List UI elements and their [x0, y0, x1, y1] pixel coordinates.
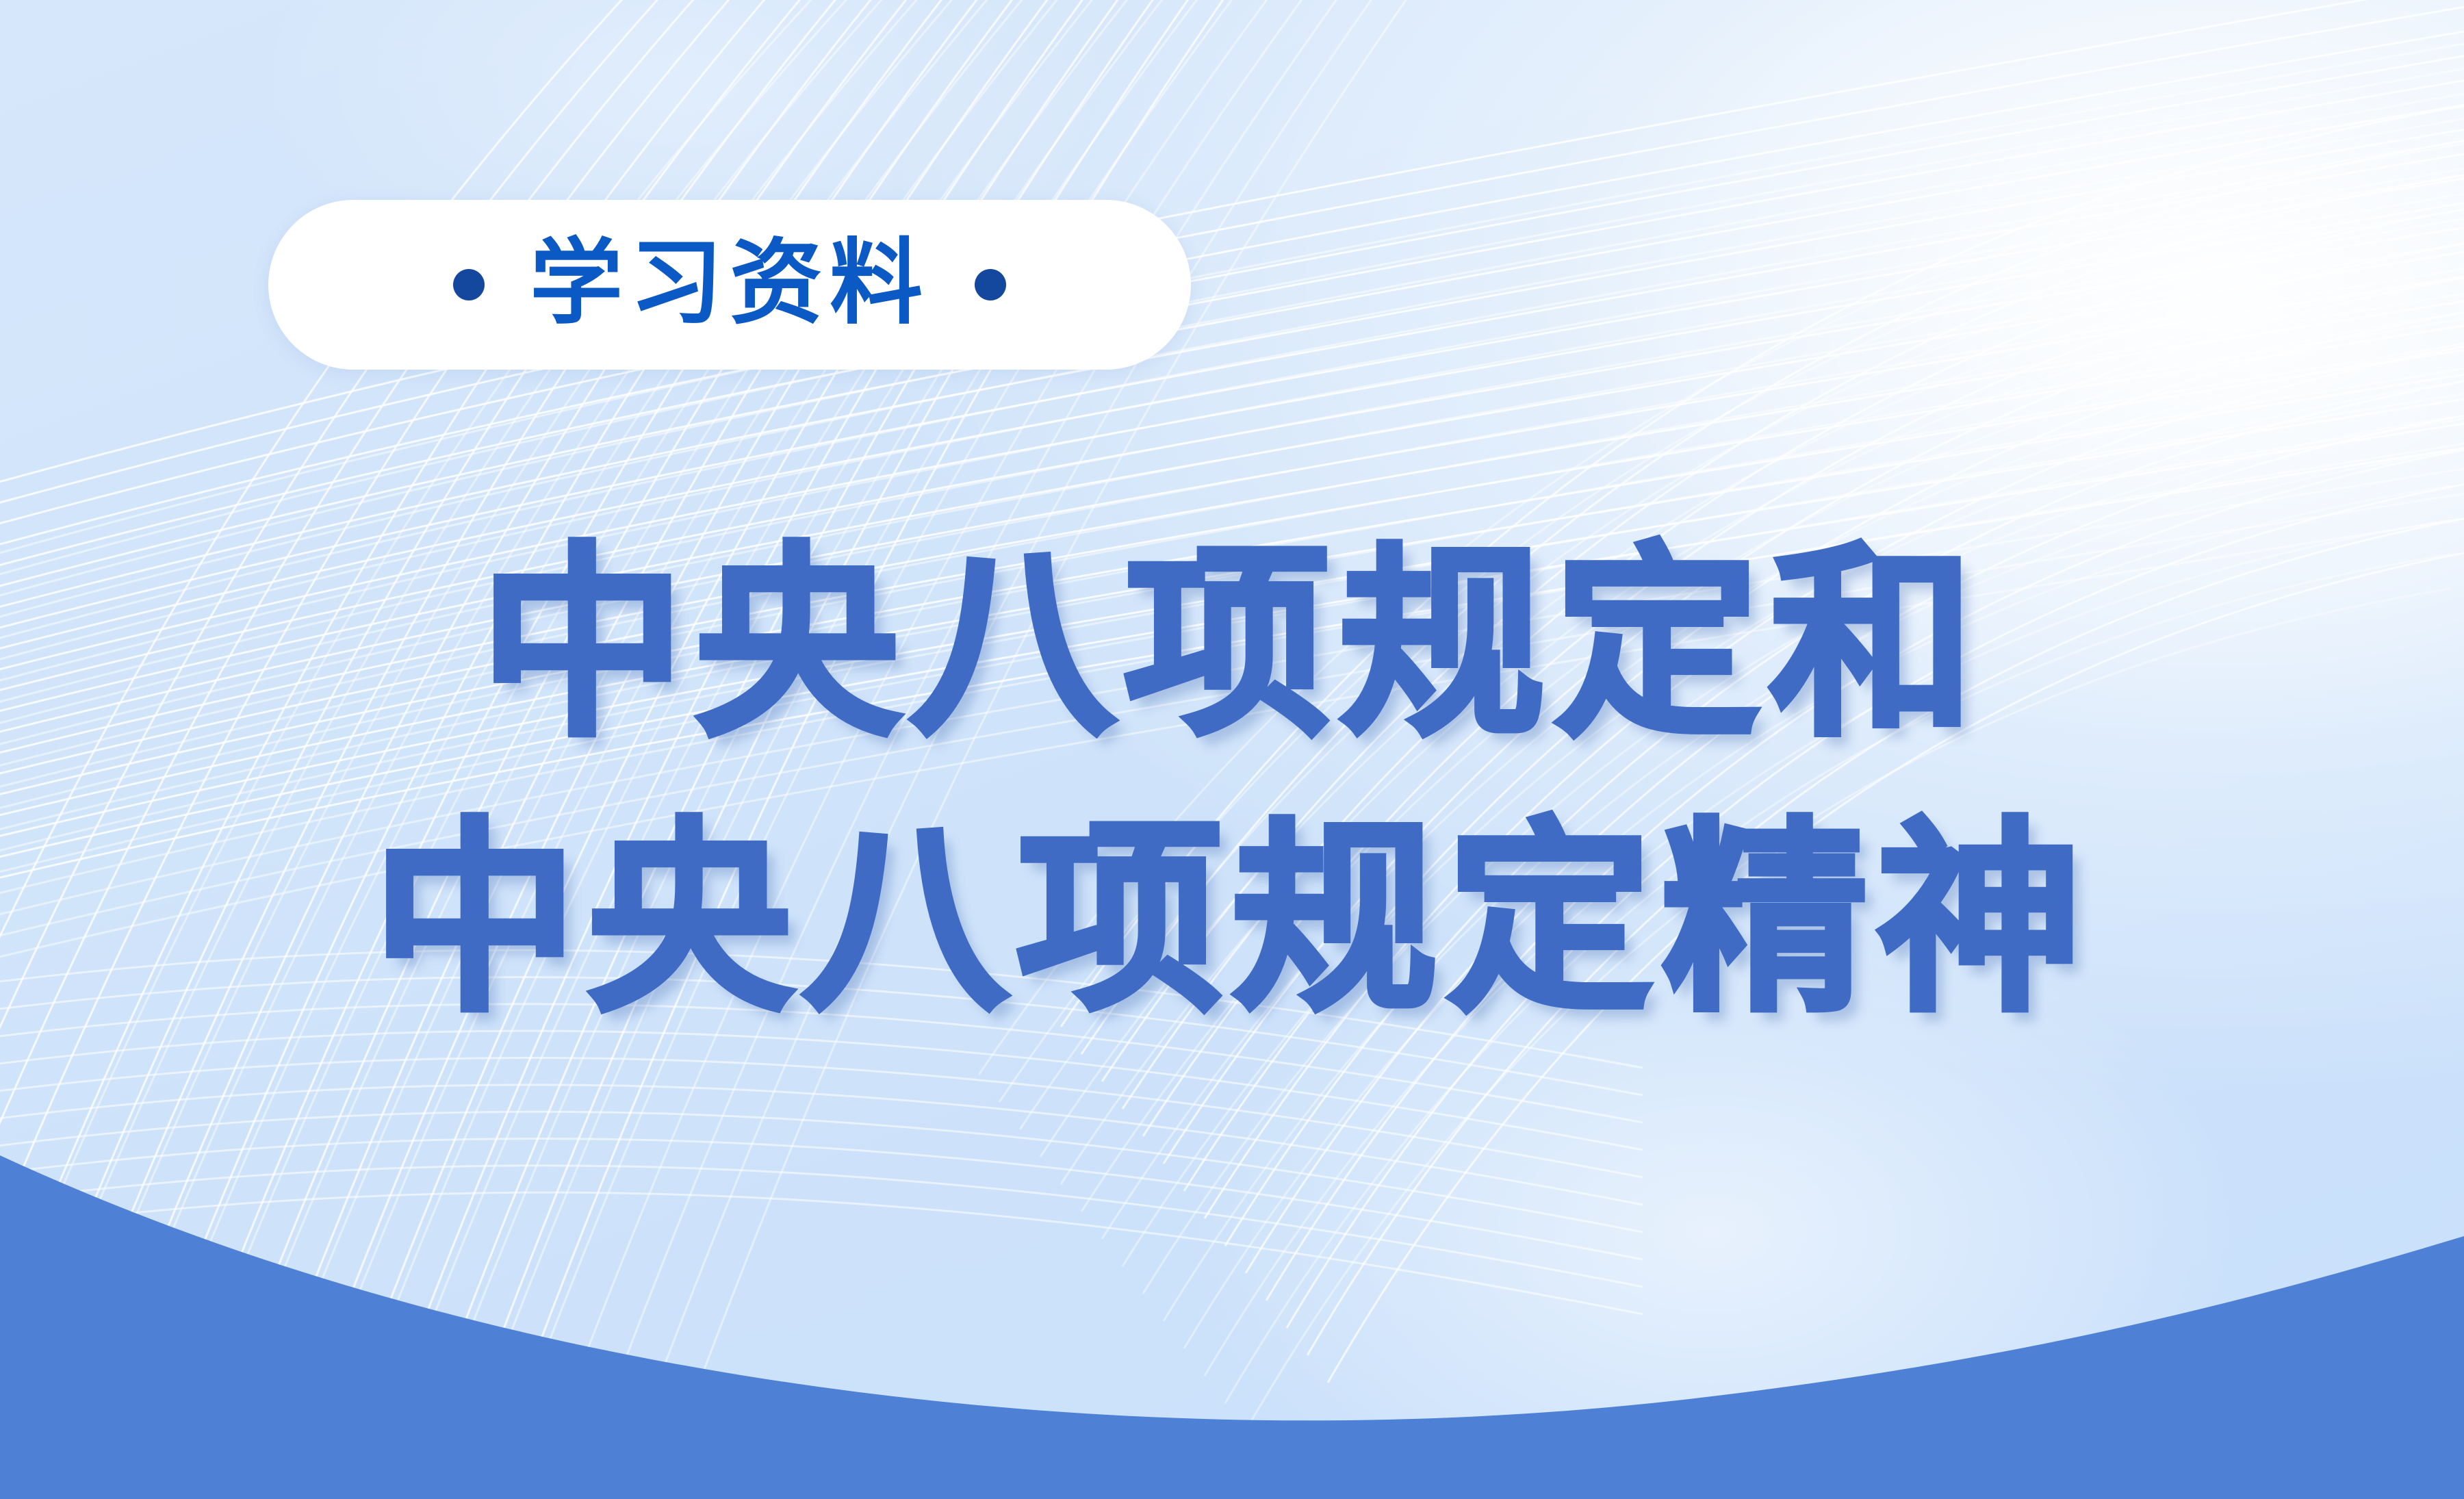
bottom-wave-decoration	[0, 1075, 2464, 1499]
bullet-dot-left-icon	[453, 269, 485, 300]
study-materials-badge: 学习资料	[268, 200, 1191, 370]
badge-label: 学习资料	[530, 236, 929, 333]
title-line-1: 中央八项规定和	[0, 507, 2464, 782]
bullet-dot-right-icon	[975, 269, 1006, 300]
page-title: 中央八项规定和 中央八项规定精神	[0, 507, 2464, 1057]
title-line-2: 中央八项规定精神	[0, 782, 2464, 1057]
poster-canvas: 学习资料 中央八项规定和 中央八项规定精神	[0, 0, 2464, 1499]
